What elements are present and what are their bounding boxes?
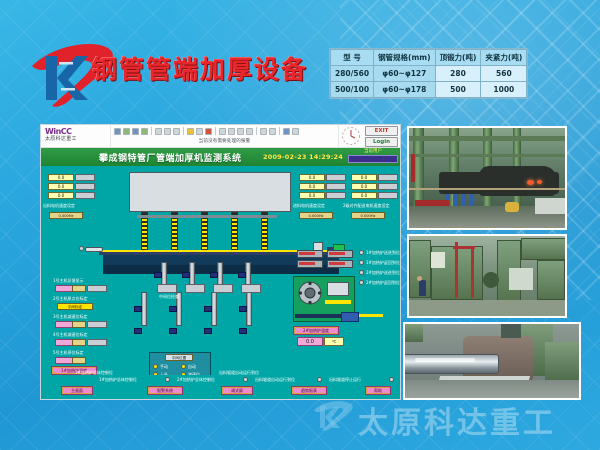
signal-line xyxy=(359,314,383,317)
page-first-icon[interactable] xyxy=(219,128,226,135)
wincc-subtitle: 太原科达重工 xyxy=(45,136,107,143)
nav-button-help[interactable]: 帮助 xyxy=(365,386,391,395)
nav-status-lamp xyxy=(243,377,248,382)
cell-pipe-size: φ60~φ178 xyxy=(374,82,436,98)
valve-symbol xyxy=(239,328,247,334)
current-user-block: 当前用户 xyxy=(348,149,398,163)
panel-row-label: 手动 xyxy=(160,364,168,369)
nav-button-trend[interactable]: 趋势报表 xyxy=(291,386,327,395)
outfeed-speed-value: 0.000Hz xyxy=(49,212,83,219)
label-furnace1-in: 1#加热炉送进到位 xyxy=(366,250,400,255)
label-align-speed-set: 2级对齐配送电机速度设定 xyxy=(343,203,390,208)
cylinder-rod xyxy=(329,252,345,255)
nav-button-alarm[interactable]: 报警系统 xyxy=(147,386,183,395)
alarm-toolbar[interactable]: 当前没有需要处理的报警 xyxy=(111,125,338,147)
help-icon[interactable] xyxy=(269,128,276,135)
unit-box xyxy=(378,183,398,190)
cell-model: 500/100 xyxy=(331,82,374,98)
cell-model: 280/560 xyxy=(331,66,374,82)
panel-lamp[interactable] xyxy=(153,364,158,369)
label-outfeed-speed-set: 出料电机速度设定 xyxy=(43,203,75,208)
current-user-value xyxy=(348,155,398,163)
watermark-text: 太原科达重工 xyxy=(358,398,556,442)
cylinder-readout xyxy=(185,284,205,293)
cylinder-readout xyxy=(157,284,177,293)
cell-clamp-force: 560 xyxy=(481,66,527,82)
hmi-system-title: 攀成钢特管厂管端加厚机监测系统 xyxy=(99,151,242,164)
unit-box xyxy=(326,183,346,190)
info-icon[interactable] xyxy=(292,128,299,135)
nav-status-label: 出料辊道自动运行到位 xyxy=(255,377,295,382)
furnace2-temp-label: 2#加热炉温度 xyxy=(293,326,339,335)
label-furnace1-out: 1#加热炉返回到位 xyxy=(366,260,400,265)
hmi-title-bar: 攀成钢特管厂管端加厚机监测系统 2009-02-23 14:29:24 当前用户 xyxy=(41,148,400,166)
toolbar-right: EXIT Login xyxy=(338,125,400,147)
valve-symbol xyxy=(204,328,212,334)
hood-bracket xyxy=(137,215,277,218)
nav-button-debug[interactable]: 调式屏 xyxy=(221,386,253,395)
cell-pipe-size: φ60~φ127 xyxy=(374,66,436,82)
incoming-pipe xyxy=(85,247,103,252)
furnace2-temp-unit: ℃ xyxy=(324,337,344,346)
label-m3-decel: 3号主机减速位标定 xyxy=(53,314,88,319)
nav-status-label: 1#加热炉总体控制位 xyxy=(99,377,137,382)
cylinder-rod xyxy=(299,252,315,255)
cell-clamp-force: 1000 xyxy=(481,82,527,98)
valve-symbol xyxy=(169,306,177,312)
label-m2-origin: 2号主机原点位标定 xyxy=(53,296,88,301)
nav-status-lamp xyxy=(165,377,170,382)
numeric-display: 0.0 xyxy=(351,192,377,199)
valve-symbol xyxy=(239,306,247,312)
numeric-display: 0.0 xyxy=(299,174,325,181)
alarm-bell-icon[interactable] xyxy=(205,128,212,135)
spec-header-pipe-size: 钢管规格(mm) xyxy=(374,50,436,66)
photo-factory-hall xyxy=(407,126,567,230)
panel-title: 中间位置 xyxy=(165,354,193,361)
status-unit xyxy=(87,321,107,328)
align-speed-value: 0.000Hz xyxy=(351,212,385,219)
ack-icon[interactable] xyxy=(123,128,130,135)
sensor-lamp xyxy=(359,250,364,255)
valve-symbol xyxy=(154,272,162,278)
status-chip xyxy=(72,357,86,364)
clock-gauge-icon xyxy=(339,125,363,147)
cylinder-rod xyxy=(329,262,345,265)
nav-status-lamp xyxy=(317,377,322,382)
furnace2-temp-value: 0.0 xyxy=(297,337,323,346)
status-chip xyxy=(72,339,86,346)
cylinder-readout xyxy=(241,284,261,293)
clamp-block xyxy=(327,282,349,296)
valve-symbol xyxy=(182,272,190,278)
cylinder-rod xyxy=(299,262,315,265)
numeric-display: 0.0 xyxy=(48,192,74,199)
nav-status-label: 出料辊道停止运行 xyxy=(329,377,361,382)
sort-desc-icon[interactable] xyxy=(164,128,171,135)
infeed-speed-value: 0.000Hz xyxy=(299,212,333,219)
label-furnace2-in: 2#加热炉送进到位 xyxy=(366,270,400,275)
label-furnace2-out: 2#加热炉返回到位 xyxy=(366,280,400,285)
list-icon[interactable] xyxy=(196,128,203,135)
drive-unit xyxy=(341,312,359,322)
refresh-icon[interactable] xyxy=(173,128,180,135)
unit-box xyxy=(326,174,346,181)
table-row: 280/560 φ60~φ127 280 560 xyxy=(331,66,527,82)
origin-calib-chip: 中间标定 xyxy=(57,303,93,310)
unit-box xyxy=(75,183,95,190)
horn-icon[interactable] xyxy=(187,128,194,135)
panel-lamp[interactable] xyxy=(181,364,186,369)
unit-box xyxy=(75,192,95,199)
label-infeed-speed-set: 进料电机速度设定 xyxy=(293,203,325,208)
cylinder-readout xyxy=(213,284,233,293)
entry-sensor-lamp xyxy=(79,246,84,251)
numeric-display: 0.0 xyxy=(48,174,74,181)
hmi-mimic-diagram: 0.0 0.0 0.0 出料电机速度设定 0.000Hz 0.0 0.0 0.0… xyxy=(41,166,400,400)
unit-box xyxy=(378,174,398,181)
cell-upset-force: 500 xyxy=(435,82,481,98)
label-m5-stop: 5号主机停位标定 xyxy=(53,350,84,355)
valve-symbol xyxy=(238,272,246,278)
panel-row-label: 自动 xyxy=(188,364,196,369)
valve-symbol xyxy=(134,306,142,312)
unit-box xyxy=(378,192,398,199)
filter-icon[interactable] xyxy=(141,128,148,135)
valve-symbol xyxy=(204,306,212,312)
unit-box xyxy=(75,174,95,181)
wincc-wordmark: WinCC xyxy=(45,127,107,136)
print-icon[interactable] xyxy=(114,128,121,135)
valve-symbol xyxy=(210,272,218,278)
numeric-display: 0.0 xyxy=(299,183,325,190)
table-row: 500/100 φ60~φ178 500 1000 xyxy=(331,82,527,98)
wincc-logo: WinCC 太原科达重工 xyxy=(41,125,111,147)
nav-status-label: 2#加热炉总体控制位 xyxy=(177,377,215,382)
status-chip xyxy=(72,285,86,292)
sensor-lamp xyxy=(359,270,364,275)
label-m4-decel: 4号主机减速位标定 xyxy=(53,332,88,337)
hydraulic-line xyxy=(325,300,351,304)
sensor-lamp xyxy=(359,260,364,265)
nav-button-main[interactable]: 主画面 xyxy=(61,386,93,395)
page-last-icon[interactable] xyxy=(246,128,253,135)
spec-table-header-row: 型 号 钢管规格(mm) 顶锻力(吨) 夹紧力(吨) xyxy=(331,50,527,66)
status-chip xyxy=(72,321,86,328)
valve-symbol xyxy=(169,328,177,334)
label-center-check: 中间位检查 xyxy=(159,294,179,299)
hmi-toolbar: WinCC 太原科达重工 xyxy=(41,125,400,148)
photo-pipe-upset-end xyxy=(403,322,581,400)
alarm-message: 当前没有需要处理的报警 xyxy=(111,138,338,144)
rotary-head-icon xyxy=(297,280,323,306)
page-prev-icon[interactable] xyxy=(228,128,235,135)
furnace-hood xyxy=(129,172,291,212)
sensor-lamp xyxy=(359,280,364,285)
cell-upset-force: 280 xyxy=(435,66,481,82)
export-icon[interactable] xyxy=(132,128,139,135)
login-button[interactable]: Login xyxy=(365,137,398,147)
hmi-nav-strip: 1#加热炉总体控制位 2#加热炉总体控制位 出料辊道自动运行到位 出料辊道停止运… xyxy=(41,375,401,399)
unit-box xyxy=(326,192,346,199)
numeric-display: 0.0 xyxy=(48,183,74,190)
numeric-display: 0.0 xyxy=(351,183,377,190)
page-next-icon[interactable] xyxy=(237,128,244,135)
spec-header-clamp-force: 夹紧力(吨) xyxy=(481,50,527,66)
zoom-icon[interactable] xyxy=(260,128,267,135)
valve-symbol xyxy=(134,328,142,334)
status-unit xyxy=(87,285,107,292)
numeric-display: 0.0 xyxy=(351,174,377,181)
settings-icon[interactable] xyxy=(283,128,290,135)
spec-table: 型 号 钢管规格(mm) 顶锻力(吨) 夹紧力(吨) 280/560 φ60~φ… xyxy=(330,49,527,98)
watermark-logo-icon xyxy=(312,398,356,432)
nav-status-lamp xyxy=(389,377,394,382)
hmi-timestamp: 2009-02-23 14:29:24 xyxy=(263,153,343,161)
status-unit xyxy=(87,339,107,346)
spec-header-model: 型 号 xyxy=(331,50,374,66)
photo-press-machine xyxy=(407,234,567,318)
page-title: 钢管管端加厚设备 xyxy=(92,50,308,86)
hmi-screenshot: WinCC 太原科达重工 xyxy=(40,124,401,400)
spec-header-upset-force: 顶锻力(吨) xyxy=(435,50,481,66)
slide-root: 钢管管端加厚设备 型 号 钢管规格(mm) 顶锻力(吨) 夹紧力(吨) 280/… xyxy=(0,0,600,450)
label-m1-feedback: 1号主机反馈显示 xyxy=(53,278,84,283)
exit-button[interactable]: EXIT xyxy=(365,126,398,136)
numeric-display: 0.0 xyxy=(299,192,325,199)
sort-asc-icon[interactable] xyxy=(155,128,162,135)
